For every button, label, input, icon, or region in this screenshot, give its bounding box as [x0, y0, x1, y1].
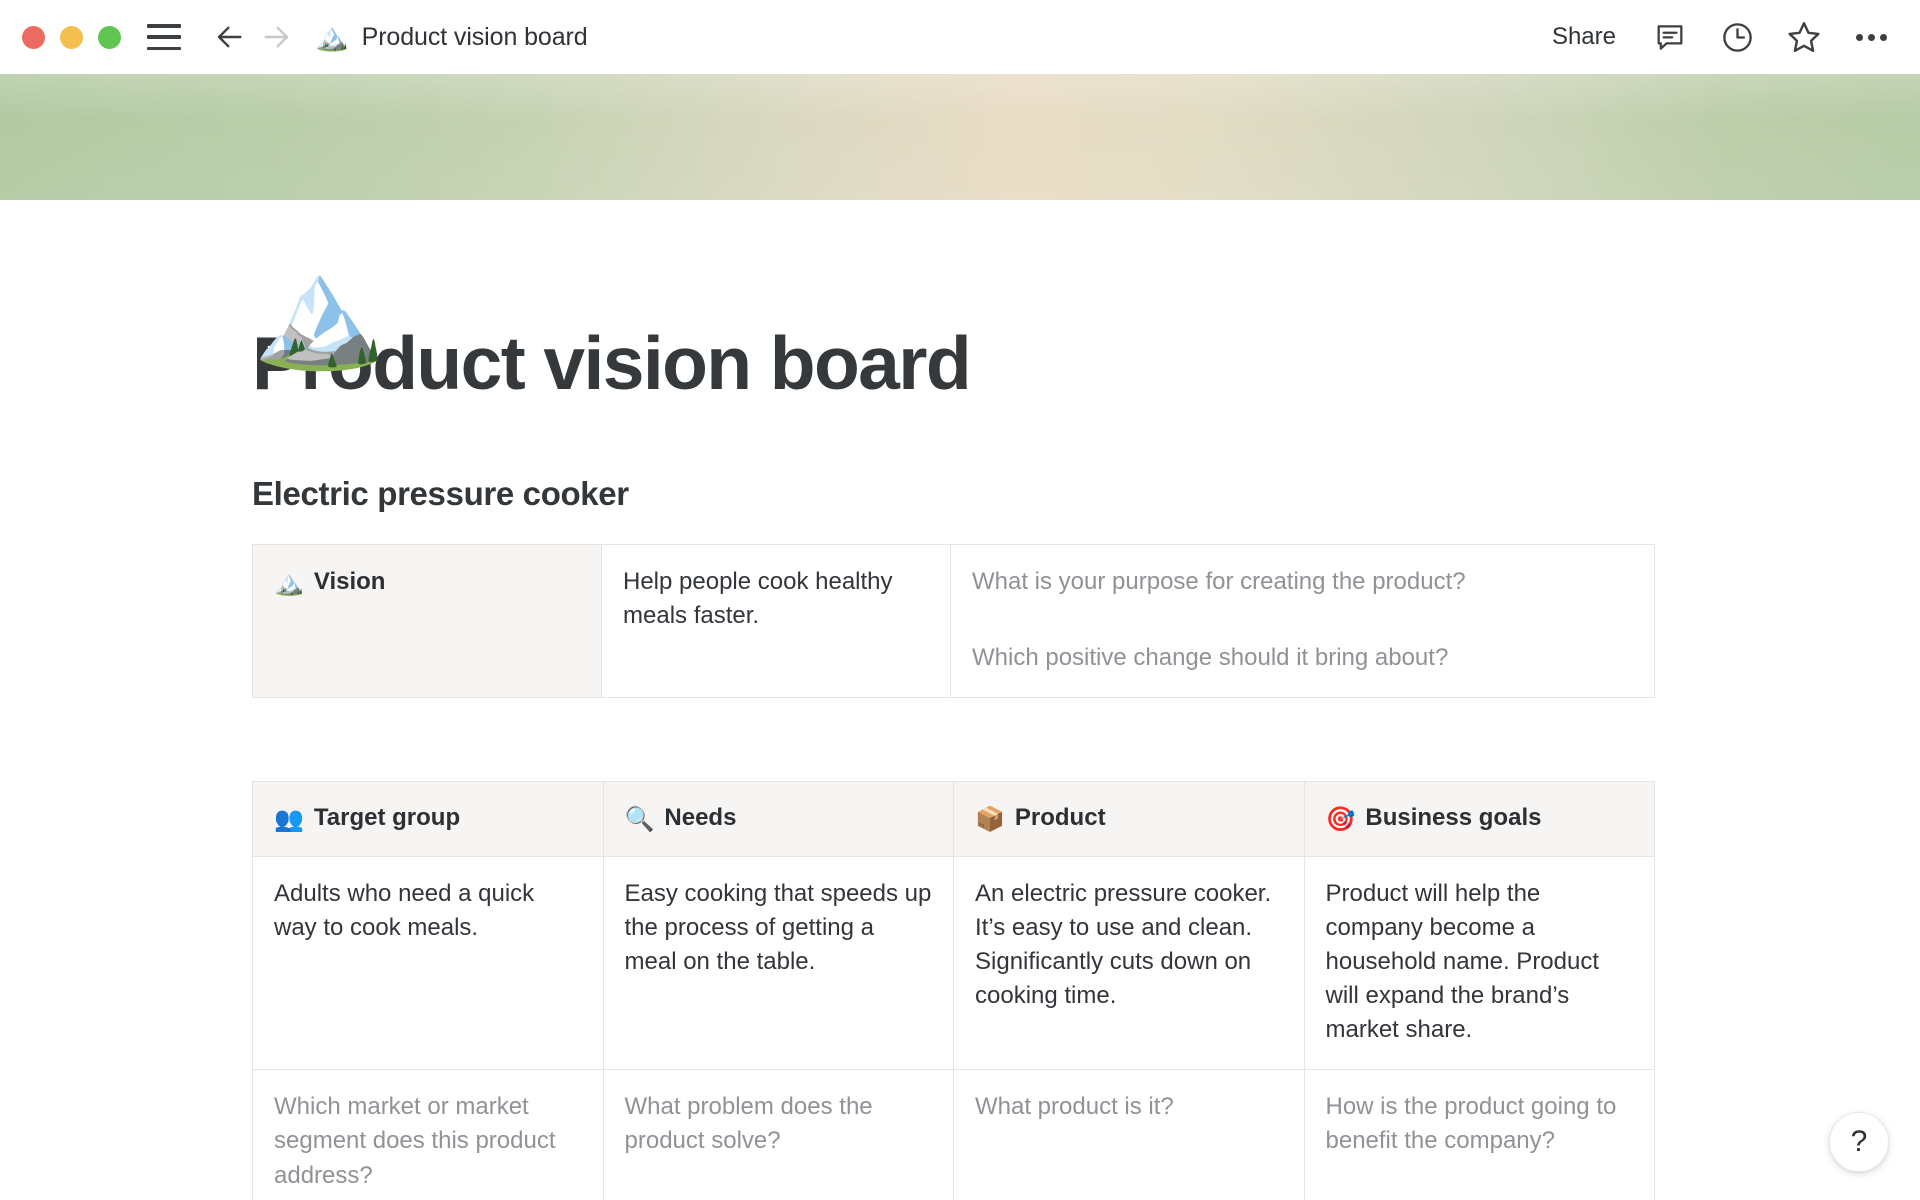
traffic-light-controls	[22, 26, 121, 49]
hamburger-menu-icon[interactable]	[147, 24, 181, 50]
ellipsis-dot	[1856, 34, 1863, 41]
cell-needs-prompt[interactable]: What problem does the product solve?	[603, 1070, 954, 1200]
cell-target-group-value[interactable]: Adults who need a quick way to cook meal…	[253, 856, 604, 1069]
cell-business-goals-value[interactable]: Product will help the company become a h…	[1304, 856, 1655, 1069]
package-icon: 📦	[975, 803, 1005, 837]
table-row: 🏔️Vision Help people cook healthy meals …	[253, 544, 1655, 697]
mountain-icon: 🏔️	[274, 567, 304, 601]
vision-board-table: 👥Target group 🔍Needs 📦Product 🎯Business …	[252, 781, 1655, 1200]
breadcrumb-title: Product vision board	[362, 23, 588, 52]
help-button[interactable]: ?	[1829, 1112, 1889, 1172]
ellipsis-dot	[1868, 34, 1875, 41]
vision-label: Vision	[314, 568, 386, 595]
column-header-business-goals[interactable]: 🎯Business goals	[1304, 781, 1655, 856]
people-icon: 👥	[274, 803, 304, 837]
vision-prompt-2: Which positive change should it bring ab…	[972, 641, 1633, 675]
column-header-label: Needs	[664, 804, 736, 831]
column-header-label: Product	[1015, 804, 1106, 831]
hamburger-bar	[147, 47, 181, 51]
cell-target-group-prompt[interactable]: Which market or market segment does this…	[253, 1070, 604, 1200]
table-row: Which market or market segment does this…	[253, 1070, 1655, 1200]
page-content: 🏔️ Product vision board Electric pressur…	[0, 324, 1920, 1200]
vision-prompt-1: What is your purpose for creating the pr…	[972, 565, 1633, 599]
section-heading[interactable]: Electric pressure cooker	[252, 475, 1670, 513]
vision-prompt-cell[interactable]: What is your purpose for creating the pr…	[951, 544, 1655, 697]
hamburger-bar	[147, 24, 181, 28]
cell-needs-value[interactable]: Easy cooking that speeds up the process …	[603, 856, 954, 1069]
table-spacer	[252, 698, 1670, 750]
vision-label-cell[interactable]: 🏔️Vision	[253, 544, 602, 697]
breadcrumb[interactable]: 🏔️ Product vision board	[315, 23, 588, 52]
comment-bubble-icon[interactable]	[1651, 18, 1689, 56]
clock-history-icon[interactable]	[1718, 18, 1756, 56]
column-header-needs[interactable]: 🔍Needs	[603, 781, 954, 856]
ellipsis-icon[interactable]	[1852, 18, 1890, 56]
page-cover-image[interactable]	[0, 74, 1920, 200]
target-icon: 🎯	[1326, 803, 1356, 837]
window-titlebar: 🏔️ Product vision board Share	[0, 0, 1920, 74]
cell-product-prompt[interactable]: What product is it?	[954, 1070, 1305, 1200]
close-window-button[interactable]	[22, 26, 45, 49]
titlebar-actions: Share	[1546, 18, 1890, 56]
column-header-label: Target group	[314, 804, 460, 831]
arrow-right-icon[interactable]	[257, 17, 297, 57]
breadcrumb-page-icon: 🏔️	[315, 24, 349, 51]
arrow-left-icon[interactable]	[209, 17, 249, 57]
table-row: Adults who need a quick way to cook meal…	[253, 856, 1655, 1069]
vision-value-cell[interactable]: Help people cook healthy meals faster.	[602, 544, 951, 697]
magnifier-icon: 🔍	[625, 803, 655, 837]
column-header-label: Business goals	[1365, 804, 1541, 831]
page-title[interactable]: Product vision board	[252, 324, 1670, 403]
page-icon[interactable]: 🏔️	[252, 258, 386, 366]
cell-product-value[interactable]: An electric pressure cooker. It’s easy t…	[954, 856, 1305, 1069]
share-button[interactable]: Share	[1546, 19, 1622, 55]
star-icon[interactable]	[1785, 18, 1823, 56]
hamburger-bar	[147, 35, 181, 39]
column-header-target-group[interactable]: 👥Target group	[253, 781, 604, 856]
vision-table: 🏔️Vision Help people cook healthy meals …	[252, 544, 1655, 698]
ellipsis-dot	[1880, 34, 1887, 41]
minimize-window-button[interactable]	[60, 26, 83, 49]
cell-business-goals-prompt[interactable]: How is the product going to benefit the …	[1304, 1070, 1655, 1200]
column-header-product[interactable]: 📦Product	[954, 781, 1305, 856]
table-header-row: 👥Target group 🔍Needs 📦Product 🎯Business …	[253, 781, 1655, 856]
maximize-window-button[interactable]	[98, 26, 121, 49]
